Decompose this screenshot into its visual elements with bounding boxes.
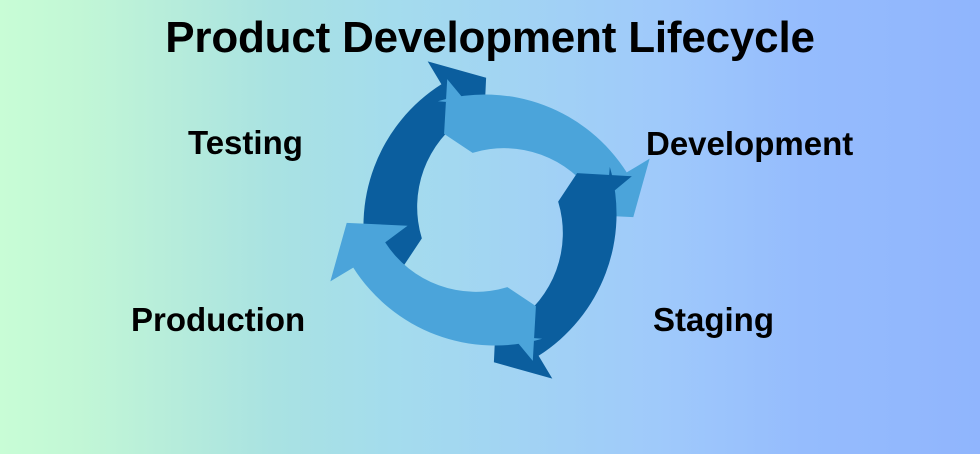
stage-label-production: Production <box>131 303 305 336</box>
cycle-diagram-svg <box>322 52 658 388</box>
poster-canvas: Product Development Lifecycle Testing De… <box>0 0 980 454</box>
cycle-diagram <box>322 52 658 388</box>
stage-label-staging: Staging <box>653 303 774 336</box>
stage-label-testing: Testing <box>188 126 303 159</box>
stage-label-development: Development <box>646 127 853 160</box>
